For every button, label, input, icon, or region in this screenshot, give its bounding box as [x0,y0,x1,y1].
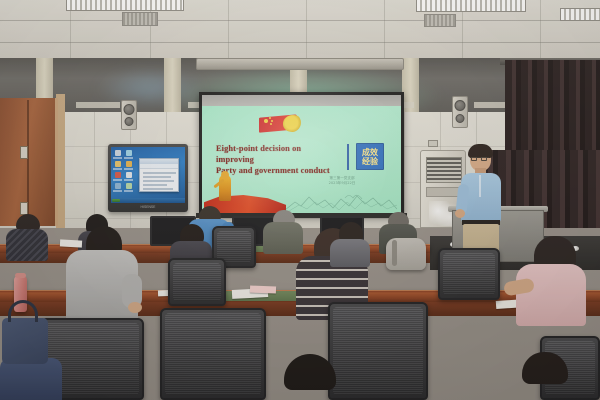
projection-screen-housing [196,58,404,70]
office-chair-foreground[interactable] [160,308,266,400]
start-button[interactable] [112,199,120,203]
office-chair[interactable] [438,248,500,300]
attendee-back-left-1 [4,214,48,258]
thermos-lid [15,273,26,278]
attendee-hair [522,352,568,384]
window-toolbar[interactable] [140,164,178,169]
wall-signal-box[interactable] [428,140,438,147]
attendee-gray-tee [66,226,138,322]
network-icon[interactable] [126,183,132,189]
ceiling-air-vent [424,14,456,27]
presenter-glasses-lens [481,157,487,161]
ceiling-light-fixture [66,0,184,11]
slide-badge: 成效 经验 [356,143,384,170]
recycle-bin-icon[interactable] [126,150,132,156]
folder-icon[interactable] [126,161,132,167]
soffit-light-strip [76,102,120,108]
slide-badge-line-2: 经验 [362,157,378,166]
attendee-hair [284,354,336,390]
attendee-front-right [498,352,582,400]
ac-grille [426,157,462,183]
display-brand-label: HISENSE [132,205,164,210]
hammer-sickle-icon [283,115,303,132]
settings-icon[interactable] [115,183,121,189]
attendee-front-center [268,354,346,400]
door-hinge [20,146,28,159]
slide-title-divider [347,144,349,170]
bag-handle [8,300,38,322]
projected-slide: Eight-point decision on improving Party … [202,106,401,213]
ceiling-air-vent [122,12,158,26]
slide-subtitle: 第三第一党支部 2023年9月22日 [310,176,374,186]
conference-room-photo: Eight-point decision on improving Party … [0,0,600,400]
presenter-glasses-lens [471,157,477,161]
ceiling-light-fixture [416,0,526,12]
wooden-door[interactable] [0,98,58,226]
wall-speaker-left [121,100,137,130]
ceiling-light-fixture [560,8,600,21]
windows-taskbar[interactable] [111,198,185,203]
my-computer-icon[interactable] [115,150,121,156]
presenter-shirt-placket [479,175,481,197]
attendee-hand [128,302,142,313]
attendee-pink-top [512,236,588,328]
party-flag-emblem-icon [259,114,305,133]
presenter-hair [468,144,493,158]
slide-badge-line-1: 成效 [362,148,378,157]
presenter-hand [455,209,465,218]
wall-speaker-right [452,96,468,128]
suspended-ceiling [0,0,600,62]
attendee-top [0,358,62,400]
document-icon[interactable] [126,172,132,178]
slide-title-line-1: Eight-point decision on improving [216,143,338,165]
attendee-top [6,229,48,261]
office-chair[interactable] [168,258,226,306]
paper-documents [250,286,276,294]
navy-tote-bag [2,318,48,364]
browser-icon[interactable] [115,161,121,167]
attendee-mid-right [328,222,370,266]
backpack-strap [392,240,397,266]
touch-display-screen[interactable] [111,147,185,203]
attendee-top [516,264,586,326]
mountain-line-art [285,186,397,212]
file-explorer-window[interactable] [139,158,179,192]
attendee-top [330,239,370,267]
media-player-icon[interactable] [115,172,121,178]
